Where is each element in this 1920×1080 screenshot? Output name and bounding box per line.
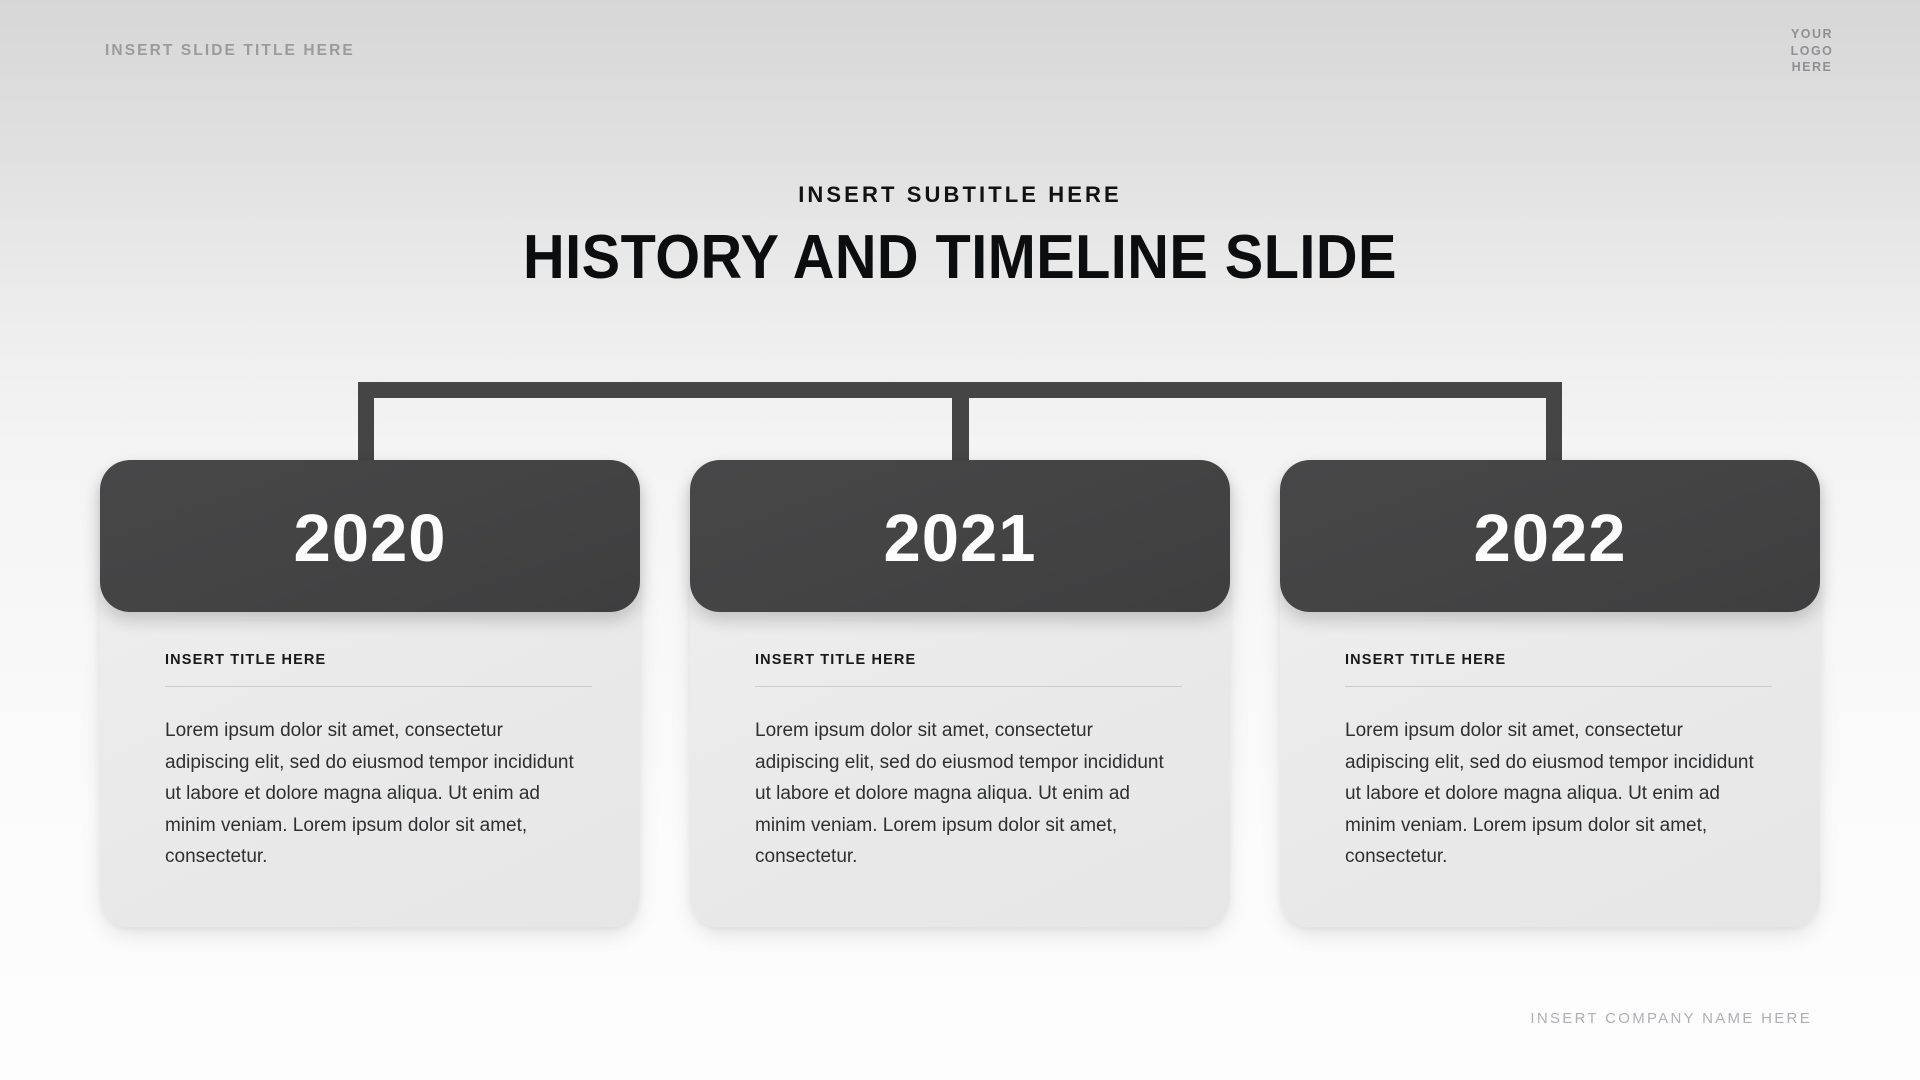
connector-drop-middle [952, 382, 969, 464]
timeline-card[interactable]: 2021 INSERT TITLE HERE Lorem ipsum dolor… [690, 460, 1230, 927]
card-body-text[interactable]: Lorem ipsum dolor sit amet, consectetur … [755, 715, 1182, 873]
card-divider [165, 686, 592, 687]
year-label: 2022 [1473, 505, 1626, 572]
card-body: INSERT TITLE HERE Lorem ipsum dolor sit … [1345, 652, 1772, 873]
card-heading[interactable]: INSERT TITLE HERE [1345, 652, 1772, 668]
card-body: INSERT TITLE HERE Lorem ipsum dolor sit … [165, 652, 592, 873]
footer-company-name[interactable]: INSERT COMPANY NAME HERE [1530, 1010, 1812, 1027]
card-divider [755, 686, 1182, 687]
timeline-card[interactable]: 2022 INSERT TITLE HERE Lorem ipsum dolor… [1280, 460, 1820, 927]
connector-drop-right [1546, 382, 1562, 464]
card-body: INSERT TITLE HERE Lorem ipsum dolor sit … [755, 652, 1182, 873]
timeline-card[interactable]: 2020 INSERT TITLE HERE Lorem ipsum dolor… [100, 460, 640, 927]
slide-canvas: INSERT SLIDE TITLE HERE YOUR LOGO HERE I… [0, 0, 1920, 1080]
card-body-text[interactable]: Lorem ipsum dolor sit amet, consectetur … [1345, 715, 1772, 873]
timeline-connector [0, 0, 1920, 520]
card-heading[interactable]: INSERT TITLE HERE [165, 652, 592, 668]
card-body-text[interactable]: Lorem ipsum dolor sit amet, consectetur … [165, 715, 592, 873]
year-label: 2020 [293, 505, 446, 572]
year-badge[interactable]: 2022 [1280, 460, 1820, 612]
year-badge[interactable]: 2020 [100, 460, 640, 612]
year-badge[interactable]: 2021 [690, 460, 1230, 612]
year-label: 2021 [883, 505, 1036, 572]
connector-drop-left [358, 382, 374, 464]
card-divider [1345, 686, 1772, 687]
card-heading[interactable]: INSERT TITLE HERE [755, 652, 1182, 668]
